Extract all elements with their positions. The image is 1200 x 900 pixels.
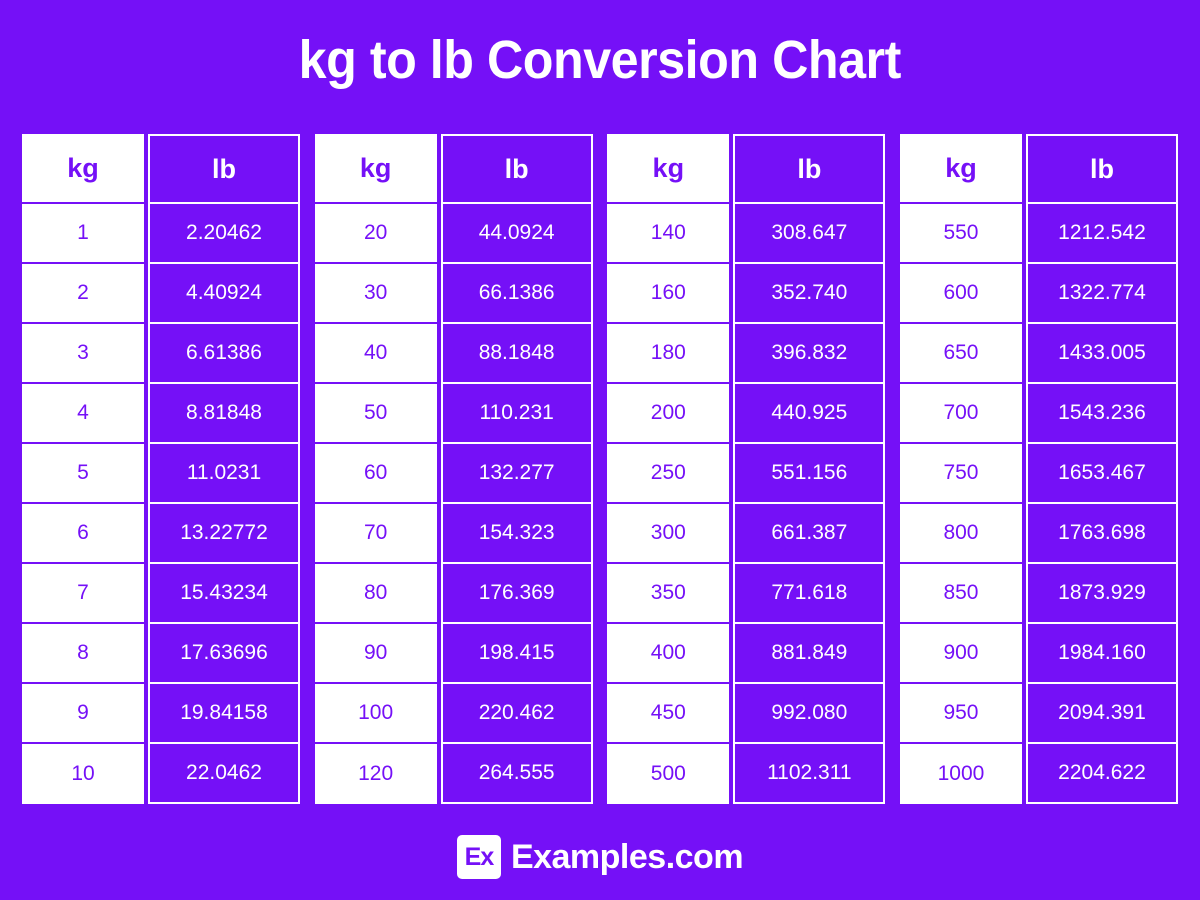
cell-kg-value: 2 — [22, 264, 144, 324]
conversion-table-2: kglb2044.09243066.13864088.184850110.231… — [315, 134, 593, 804]
cell-kg-value: 350 — [607, 564, 729, 624]
column-header-kg: kg — [315, 134, 437, 204]
cell-lb-value: 11.0231 — [148, 444, 300, 504]
cell-kg-value: 9 — [22, 684, 144, 744]
cell-lb-value: 1543.236 — [1026, 384, 1178, 444]
table-row: 200440.925 — [607, 384, 885, 444]
column-header-lb: lb — [733, 134, 885, 204]
cell-kg-value: 7 — [22, 564, 144, 624]
cell-kg-value: 1000 — [900, 744, 1022, 804]
cell-lb-value: 110.231 — [441, 384, 593, 444]
cell-lb-value: 66.1386 — [441, 264, 593, 324]
table-row: 12.20462 — [22, 204, 300, 264]
table-row: 7001543.236 — [900, 384, 1178, 444]
table-row: 50110.231 — [315, 384, 593, 444]
table-row: 120264.555 — [315, 744, 593, 804]
table-row: 3066.1386 — [315, 264, 593, 324]
cell-kg-value: 40 — [315, 324, 437, 384]
table-row: 6501433.005 — [900, 324, 1178, 384]
table-row: 511.0231 — [22, 444, 300, 504]
cell-lb-value: 308.647 — [733, 204, 885, 264]
column-header-kg: kg — [900, 134, 1022, 204]
examples-logo-icon: Ex — [457, 835, 501, 879]
table-row: 5001102.311 — [607, 744, 885, 804]
cell-kg-value: 100 — [315, 684, 437, 744]
table-row: 100220.462 — [315, 684, 593, 744]
cell-kg-value: 850 — [900, 564, 1022, 624]
tables-container: kglb12.2046224.4092436.6138648.81848511.… — [0, 120, 1200, 814]
cell-kg-value: 950 — [900, 684, 1022, 744]
cell-kg-value: 90 — [315, 624, 437, 684]
cell-lb-value: 881.849 — [733, 624, 885, 684]
table-row: 715.43234 — [22, 564, 300, 624]
table-row: 80176.369 — [315, 564, 593, 624]
cell-lb-value: 264.555 — [441, 744, 593, 804]
table-row: 90198.415 — [315, 624, 593, 684]
cell-kg-value: 5 — [22, 444, 144, 504]
conversion-table-3: kglb140308.647160352.740180396.832200440… — [607, 134, 885, 804]
cell-lb-value: 1322.774 — [1026, 264, 1178, 324]
cell-kg-value: 120 — [315, 744, 437, 804]
cell-kg-value: 80 — [315, 564, 437, 624]
cell-kg-value: 50 — [315, 384, 437, 444]
cell-lb-value: 88.1848 — [441, 324, 593, 384]
cell-kg-value: 700 — [900, 384, 1022, 444]
conversion-chart-page: kg to lb Conversion Chart kglb12.2046224… — [0, 0, 1200, 900]
cell-lb-value: 661.387 — [733, 504, 885, 564]
table-row: 9502094.391 — [900, 684, 1178, 744]
table-header-row: kglb — [22, 134, 300, 204]
table-row: 919.84158 — [22, 684, 300, 744]
column-header-kg: kg — [607, 134, 729, 204]
cell-lb-value: 551.156 — [733, 444, 885, 504]
table-row: 300661.387 — [607, 504, 885, 564]
cell-lb-value: 352.740 — [733, 264, 885, 324]
cell-lb-value: 8.81848 — [148, 384, 300, 444]
table-row: 2044.0924 — [315, 204, 593, 264]
cell-lb-value: 22.0462 — [148, 744, 300, 804]
cell-lb-value: 176.369 — [441, 564, 593, 624]
table-row: 250551.156 — [607, 444, 885, 504]
cell-kg-value: 60 — [315, 444, 437, 504]
table-row: 4088.1848 — [315, 324, 593, 384]
cell-lb-value: 1212.542 — [1026, 204, 1178, 264]
conversion-table-1: kglb12.2046224.4092436.6138648.81848511.… — [22, 134, 300, 804]
cell-kg-value: 800 — [900, 504, 1022, 564]
table-row: 24.40924 — [22, 264, 300, 324]
cell-lb-value: 1984.160 — [1026, 624, 1178, 684]
cell-lb-value: 992.080 — [733, 684, 885, 744]
cell-lb-value: 396.832 — [733, 324, 885, 384]
cell-kg-value: 400 — [607, 624, 729, 684]
table-row: 5501212.542 — [900, 204, 1178, 264]
footer-branding: Ex Examples.com — [0, 814, 1200, 900]
cell-kg-value: 20 — [315, 204, 437, 264]
table-row: 36.61386 — [22, 324, 300, 384]
title-bar: kg to lb Conversion Chart — [0, 0, 1200, 120]
conversion-table-4: kglb5501212.5426001322.7746501433.005700… — [900, 134, 1178, 804]
cell-kg-value: 550 — [900, 204, 1022, 264]
cell-lb-value: 4.40924 — [148, 264, 300, 324]
page-title: kg to lb Conversion Chart — [299, 29, 901, 91]
cell-lb-value: 1763.698 — [1026, 504, 1178, 564]
cell-lb-value: 2094.391 — [1026, 684, 1178, 744]
table-row: 450992.080 — [607, 684, 885, 744]
cell-lb-value: 132.277 — [441, 444, 593, 504]
cell-kg-value: 900 — [900, 624, 1022, 684]
cell-lb-value: 1102.311 — [733, 744, 885, 804]
cell-kg-value: 450 — [607, 684, 729, 744]
cell-kg-value: 30 — [315, 264, 437, 324]
cell-lb-value: 17.63696 — [148, 624, 300, 684]
cell-kg-value: 160 — [607, 264, 729, 324]
cell-kg-value: 140 — [607, 204, 729, 264]
cell-lb-value: 198.415 — [441, 624, 593, 684]
cell-lb-value: 154.323 — [441, 504, 593, 564]
cell-kg-value: 750 — [900, 444, 1022, 504]
cell-lb-value: 440.925 — [733, 384, 885, 444]
cell-lb-value: 1653.467 — [1026, 444, 1178, 504]
cell-lb-value: 1433.005 — [1026, 324, 1178, 384]
cell-kg-value: 8 — [22, 624, 144, 684]
table-row: 6001322.774 — [900, 264, 1178, 324]
cell-kg-value: 200 — [607, 384, 729, 444]
table-row: 350771.618 — [607, 564, 885, 624]
table-row: 48.81848 — [22, 384, 300, 444]
cell-lb-value: 1873.929 — [1026, 564, 1178, 624]
table-row: 613.22772 — [22, 504, 300, 564]
cell-kg-value: 10 — [22, 744, 144, 804]
table-row: 70154.323 — [315, 504, 593, 564]
cell-kg-value: 4 — [22, 384, 144, 444]
cell-kg-value: 250 — [607, 444, 729, 504]
table-row: 160352.740 — [607, 264, 885, 324]
table-row: 7501653.467 — [900, 444, 1178, 504]
column-header-lb: lb — [148, 134, 300, 204]
cell-lb-value: 13.22772 — [148, 504, 300, 564]
table-header-row: kglb — [315, 134, 593, 204]
column-header-lb: lb — [441, 134, 593, 204]
cell-kg-value: 1 — [22, 204, 144, 264]
table-row: 9001984.160 — [900, 624, 1178, 684]
table-row: 8001763.698 — [900, 504, 1178, 564]
cell-lb-value: 2.20462 — [148, 204, 300, 264]
table-row: 10002204.622 — [900, 744, 1178, 804]
cell-kg-value: 300 — [607, 504, 729, 564]
table-row: 817.63696 — [22, 624, 300, 684]
table-row: 60132.277 — [315, 444, 593, 504]
table-row: 8501873.929 — [900, 564, 1178, 624]
cell-lb-value: 15.43234 — [148, 564, 300, 624]
cell-kg-value: 650 — [900, 324, 1022, 384]
cell-lb-value: 2204.622 — [1026, 744, 1178, 804]
table-header-row: kglb — [607, 134, 885, 204]
cell-lb-value: 771.618 — [733, 564, 885, 624]
cell-kg-value: 500 — [607, 744, 729, 804]
brand-name: Examples.com — [511, 838, 743, 877]
column-header-lb: lb — [1026, 134, 1178, 204]
column-header-kg: kg — [22, 134, 144, 204]
cell-lb-value: 44.0924 — [441, 204, 593, 264]
table-row: 180396.832 — [607, 324, 885, 384]
cell-lb-value: 6.61386 — [148, 324, 300, 384]
table-row: 1022.0462 — [22, 744, 300, 804]
cell-lb-value: 19.84158 — [148, 684, 300, 744]
table-row: 140308.647 — [607, 204, 885, 264]
table-row: 400881.849 — [607, 624, 885, 684]
cell-kg-value: 6 — [22, 504, 144, 564]
cell-kg-value: 3 — [22, 324, 144, 384]
table-header-row: kglb — [900, 134, 1178, 204]
cell-kg-value: 70 — [315, 504, 437, 564]
cell-kg-value: 180 — [607, 324, 729, 384]
cell-kg-value: 600 — [900, 264, 1022, 324]
cell-lb-value: 220.462 — [441, 684, 593, 744]
